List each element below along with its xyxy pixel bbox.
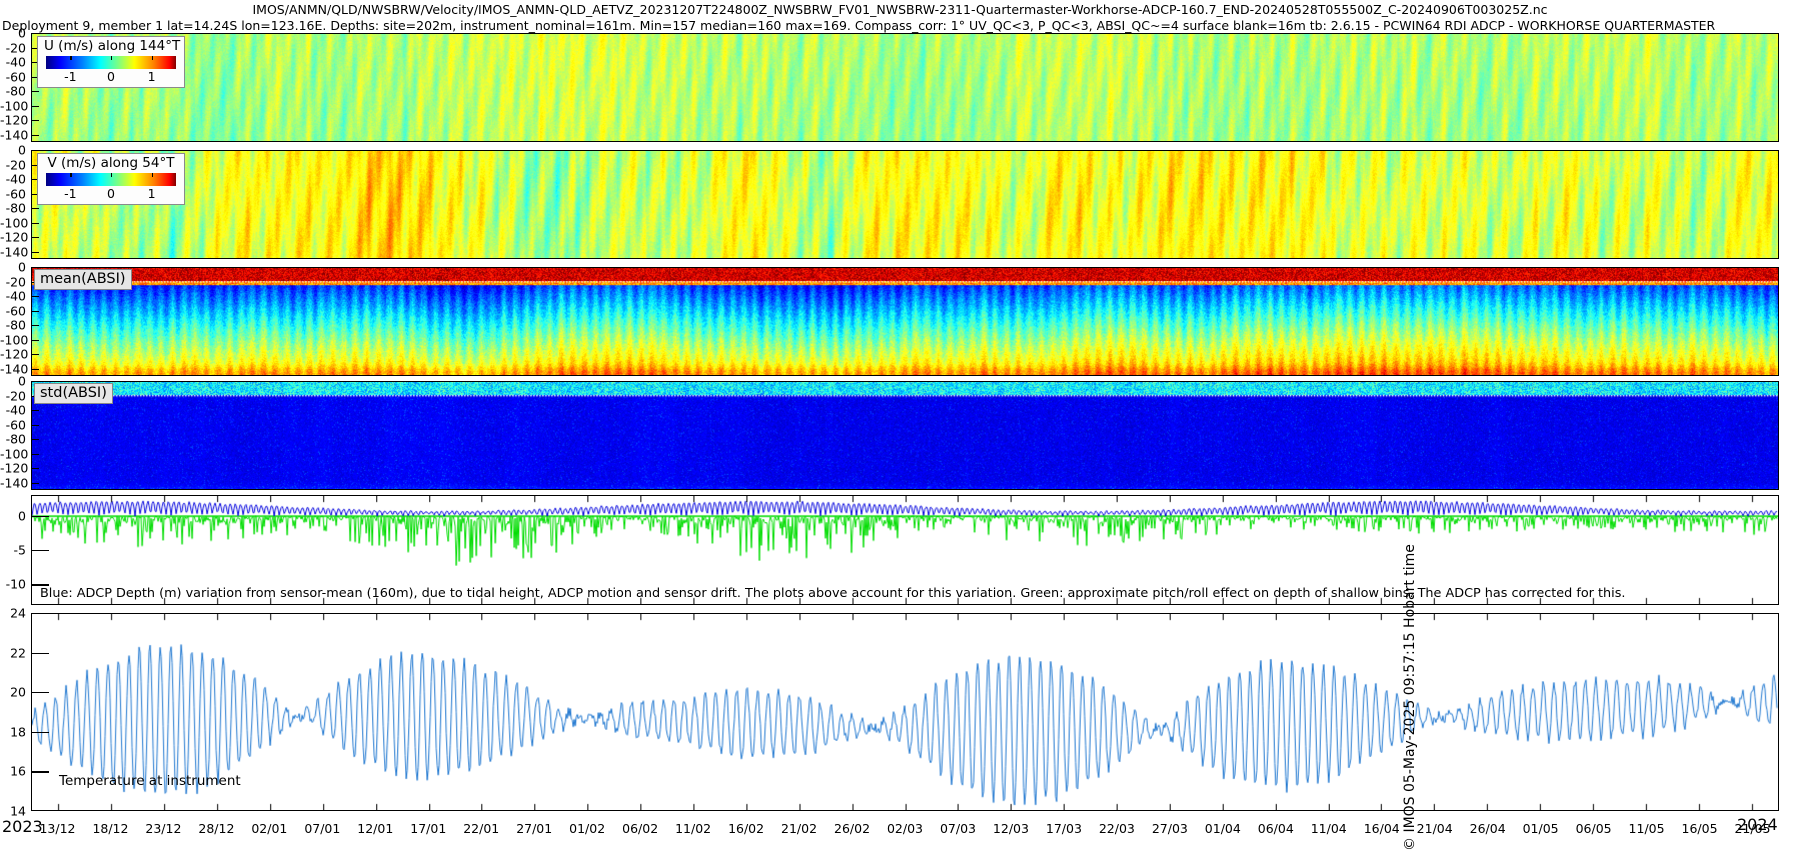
y-tick-label-temperature-1: 22	[0, 645, 29, 660]
colorbar-legend-u-velocity[interactable]: U (m/s) along 144°T-101	[37, 36, 185, 88]
x-tick-label-4: 02/01	[251, 821, 287, 836]
colorbar-tick-mark-0	[70, 56, 71, 60]
y-tick-label-adcp-depth-variation-1: -5	[0, 543, 29, 558]
y-tick-label-temperature-4: 16	[0, 764, 29, 779]
x-tick-label-24: 11/04	[1311, 821, 1347, 836]
figure-title-line1: IMOS/ANMN/QLD/NWSBRW/Velocity/IMOS_ANMN-…	[0, 2, 1800, 17]
x-tick-label-2: 23/12	[145, 821, 181, 836]
plot-area-v-velocity	[32, 151, 1778, 258]
x-tick-label-19: 17/03	[1046, 821, 1082, 836]
y-tick-label-std-absi-5: -100	[0, 446, 29, 461]
y-tick-mark-u-velocity-5	[31, 106, 39, 107]
y-tick-label-std-absi-7: -140	[0, 475, 29, 490]
y-tick-mark-v-velocity-6	[31, 237, 39, 238]
plot-area-u-velocity	[32, 34, 1778, 141]
y-tick-mark-std-absi-3	[31, 425, 39, 426]
panel-std-absi[interactable]	[31, 381, 1779, 490]
colorbar-tick-label-1: 0	[107, 69, 115, 84]
colorbar-tick-mark-2	[152, 56, 153, 60]
y-tick-label-std-absi-2: -40	[0, 403, 29, 418]
y-tick-mark-mean-absi-6	[31, 354, 39, 355]
figure-title-line2: Deployment 9, member 1 lat=14.24S lon=12…	[2, 18, 1800, 33]
y-tick-label-u-velocity-2: -40	[0, 55, 29, 70]
y-tick-label-mean-absi-2: -40	[0, 289, 29, 304]
y-tick-mark-temperature-2	[31, 692, 49, 693]
colorbar-tick-label-0: -1	[64, 186, 76, 201]
x-tick-label-21: 27/03	[1152, 821, 1188, 836]
x-axis-end-year: 2024	[1737, 815, 1778, 834]
y-tick-mark-std-absi-7	[31, 483, 39, 484]
x-tick-label-3: 28/12	[198, 821, 234, 836]
y-tick-mark-v-velocity-4	[31, 208, 39, 209]
data-field-temperature	[32, 614, 1778, 810]
y-tick-label-u-velocity-3: -60	[0, 69, 29, 84]
y-tick-mark-u-velocity-7	[31, 135, 39, 136]
y-tick-mark-mean-absi-3	[31, 311, 39, 312]
y-tick-label-u-velocity-6: -120	[0, 113, 29, 128]
x-tick-label-5: 07/01	[304, 821, 340, 836]
y-tick-mark-u-velocity-6	[31, 120, 39, 121]
y-tick-mark-mean-absi-7	[31, 369, 39, 370]
y-tick-mark-mean-absi-2	[31, 296, 39, 297]
y-tick-label-temperature-3: 18	[0, 724, 29, 739]
y-tick-label-v-velocity-0: 0	[0, 143, 29, 158]
colorbar-title-u-velocity: U (m/s) along 144°T	[44, 39, 178, 54]
panel-v-velocity[interactable]	[31, 150, 1779, 259]
y-tick-mark-std-absi-2	[31, 410, 39, 411]
y-tick-label-mean-absi-6: -120	[0, 347, 29, 362]
x-axis-start-year: 2023	[2, 817, 43, 836]
plot-area-std-absi	[32, 382, 1778, 489]
y-tick-label-u-velocity-7: -140	[0, 127, 29, 142]
y-tick-label-adcp-depth-variation-0: 0	[0, 508, 29, 523]
y-tick-mark-temperature-0	[31, 613, 49, 614]
panel-mean-absi[interactable]	[31, 267, 1779, 376]
y-tick-label-std-absi-4: -80	[0, 432, 29, 447]
x-tick-label-9: 27/01	[516, 821, 552, 836]
y-tick-label-u-velocity-0: 0	[0, 26, 29, 41]
x-tick-label-14: 21/02	[781, 821, 817, 836]
x-tick-label-16: 02/03	[887, 821, 923, 836]
y-tick-label-adcp-depth-variation-2: -10	[0, 577, 29, 592]
colorbar-tick-labels-u-velocity: -101	[46, 69, 176, 84]
y-tick-label-u-velocity-5: -100	[0, 98, 29, 113]
colorbar-tick-mark-0	[70, 173, 71, 177]
y-tick-mark-std-absi-4	[31, 439, 39, 440]
y-tick-label-v-velocity-1: -20	[0, 157, 29, 172]
x-tick-label-12: 11/02	[675, 821, 711, 836]
colorbar-tick-label-2: 1	[148, 69, 156, 84]
y-tick-mark-v-velocity-5	[31, 223, 39, 224]
y-tick-mark-temperature-4	[31, 771, 49, 772]
colorbar-tick-label-2: 1	[148, 186, 156, 201]
data-field-velocity-u	[32, 34, 1778, 141]
x-tick-label-26: 21/04	[1417, 821, 1453, 836]
colorbar-tick-label-1: 0	[107, 186, 115, 201]
colorbar-title-v-velocity: V (m/s) along 54°T	[44, 156, 178, 171]
x-tick-label-27: 26/04	[1470, 821, 1506, 836]
y-tick-label-v-velocity-3: -60	[0, 186, 29, 201]
colorbar-tick-mark-1	[111, 173, 112, 177]
x-tick-label-13: 16/02	[728, 821, 764, 836]
x-tick-label-28: 01/05	[1523, 821, 1559, 836]
y-tick-label-v-velocity-5: -100	[0, 215, 29, 230]
x-tick-label-8: 22/01	[463, 821, 499, 836]
x-tick-label-18: 12/03	[993, 821, 1029, 836]
panel-label-std-absi: std(ABSI)	[34, 383, 113, 404]
x-tick-label-25: 16/04	[1364, 821, 1400, 836]
panel-temperature[interactable]	[31, 613, 1779, 811]
y-tick-label-std-absi-0: 0	[0, 374, 29, 389]
y-tick-mark-temperature-3	[31, 732, 49, 733]
y-tick-label-u-velocity-4: -80	[0, 84, 29, 99]
y-tick-mark-v-velocity-7	[31, 252, 39, 253]
colorbar-tick-mark-2	[152, 173, 153, 177]
x-tick-label-11: 06/02	[622, 821, 658, 836]
colorbar-tick-label-0: -1	[64, 69, 76, 84]
x-tick-label-0: 13/12	[39, 821, 75, 836]
y-tick-label-u-velocity-1: -20	[0, 40, 29, 55]
y-tick-mark-adcp-depth-variation-0	[31, 516, 49, 517]
y-tick-mark-v-velocity-0	[31, 150, 39, 151]
y-tick-label-mean-absi-3: -60	[0, 303, 29, 318]
x-tick-label-1: 18/12	[92, 821, 128, 836]
y-tick-mark-temperature-1	[31, 653, 49, 654]
y-tick-mark-mean-absi-5	[31, 340, 39, 341]
y-tick-label-mean-absi-5: -100	[0, 332, 29, 347]
data-field-std-absi	[32, 382, 1778, 489]
panel-label-mean-absi: mean(ABSI)	[34, 269, 132, 290]
y-tick-mark-mean-absi-4	[31, 325, 39, 326]
colorbar-tick-mark-1	[111, 56, 112, 60]
colorbar-tick-labels-v-velocity: -101	[46, 186, 176, 201]
x-tick-label-31: 16/05	[1682, 821, 1718, 836]
panel-u-velocity[interactable]	[31, 33, 1779, 142]
plot-area-mean-absi	[32, 268, 1778, 375]
y-tick-label-mean-absi-4: -80	[0, 318, 29, 333]
data-field-velocity-v	[32, 151, 1778, 258]
y-tick-mark-temperature-5	[31, 810, 49, 811]
x-tick-label-6: 12/01	[357, 821, 393, 836]
colorbar-legend-v-velocity[interactable]: V (m/s) along 54°T-101	[37, 153, 185, 205]
y-tick-mark-std-absi-5	[31, 454, 39, 455]
y-tick-label-v-velocity-7: -140	[0, 244, 29, 259]
copyright-credit: © IMOS 05-May-2025 09:57:15 Hobart time	[1402, 455, 1418, 850]
x-tick-label-30: 11/05	[1629, 821, 1665, 836]
x-tick-label-10: 01/02	[569, 821, 605, 836]
x-tick-label-22: 01/04	[1205, 821, 1241, 836]
y-tick-label-std-absi-1: -20	[0, 388, 29, 403]
y-tick-mark-u-velocity-4	[31, 91, 39, 92]
x-tick-label-17: 07/03	[940, 821, 976, 836]
y-tick-mark-u-velocity-0	[31, 33, 39, 34]
figure-root: IMOS/ANMN/QLD/NWSBRW/Velocity/IMOS_ANMN-…	[0, 0, 1800, 850]
x-tick-label-23: 06/04	[1258, 821, 1294, 836]
depth-panel-footnote: Blue: ADCP Depth (m) variation from sens…	[40, 586, 1625, 601]
x-tick-label-29: 06/05	[1576, 821, 1612, 836]
x-tick-label-7: 17/01	[410, 821, 446, 836]
colorbar-gradient-v-velocity	[46, 173, 176, 186]
data-field-mean-absi	[32, 268, 1778, 375]
x-axis: 202313/1218/1223/1228/1202/0107/0112/011…	[0, 812, 1800, 847]
y-tick-label-v-velocity-2: -40	[0, 172, 29, 187]
y-tick-label-std-absi-3: -60	[0, 417, 29, 432]
plot-area-temperature	[32, 614, 1778, 810]
y-tick-label-mean-absi-0: 0	[0, 260, 29, 275]
panel-label-temperature: Temperature at instrument	[59, 773, 241, 789]
y-tick-label-std-absi-6: -120	[0, 461, 29, 476]
y-tick-label-v-velocity-6: -120	[0, 230, 29, 245]
colorbar-gradient-u-velocity	[46, 56, 176, 69]
y-tick-label-mean-absi-1: -20	[0, 274, 29, 289]
y-tick-mark-adcp-depth-variation-1	[31, 550, 49, 551]
x-tick-label-15: 26/02	[834, 821, 870, 836]
y-tick-label-v-velocity-4: -80	[0, 201, 29, 216]
x-tick-label-20: 22/03	[1099, 821, 1135, 836]
y-tick-label-temperature-0: 24	[0, 606, 29, 621]
y-tick-mark-std-absi-6	[31, 468, 39, 469]
y-tick-label-temperature-2: 20	[0, 685, 29, 700]
